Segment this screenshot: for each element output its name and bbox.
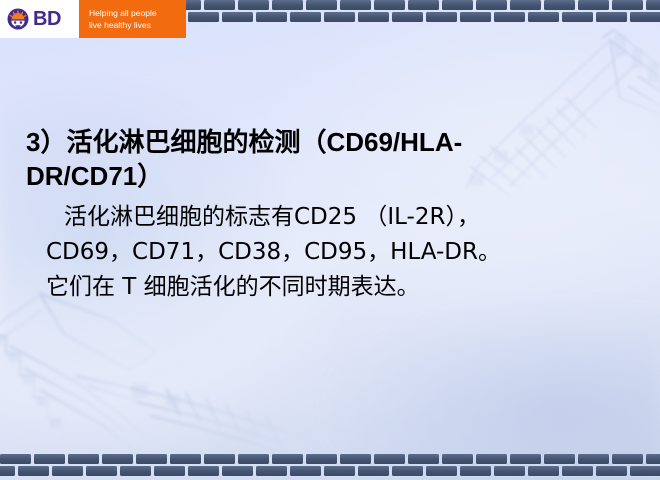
bd-tagline-line-1: Helping all people — [89, 7, 177, 19]
bd-tagline: Helping all people live healthy lives — [79, 0, 186, 38]
slide-body-line-1: 活化淋巴细胞的标志有CD25 （IL-2R）， — [46, 200, 566, 235]
slide-canvas: BD Helping all people live healthy lives… — [0, 0, 660, 480]
slide-body-line-3: 它们在 T 细胞活化的不同时期表达。 — [46, 270, 566, 305]
bd-tagline-line-2: live healthy lives — [89, 19, 177, 31]
slide-body-line-2: CD69，CD71，CD38，CD95，HLA-DR。 — [46, 235, 566, 270]
bd-sunburst-logo-icon — [7, 8, 29, 30]
slide-body: 活化淋巴细胞的标志有CD25 （IL-2R）， CD69，CD71，CD38，C… — [46, 200, 566, 305]
bd-brand-header: BD Helping all people live healthy lives — [0, 0, 186, 38]
bd-wordmark: BD — [33, 9, 61, 29]
slide-title-line-1: 3）活化淋巴细胞的检测（CD69/HLA- — [26, 126, 586, 160]
slide-title: 3）活化淋巴细胞的检测（CD69/HLA- DR/CD71） — [26, 126, 586, 194]
bd-logo-box: BD — [0, 0, 79, 38]
slide-title-line-2: DR/CD71） — [26, 160, 586, 194]
slide-content: 3）活化淋巴细胞的检测（CD69/HLA- DR/CD71） 活化淋巴细胞的标志… — [0, 0, 660, 480]
